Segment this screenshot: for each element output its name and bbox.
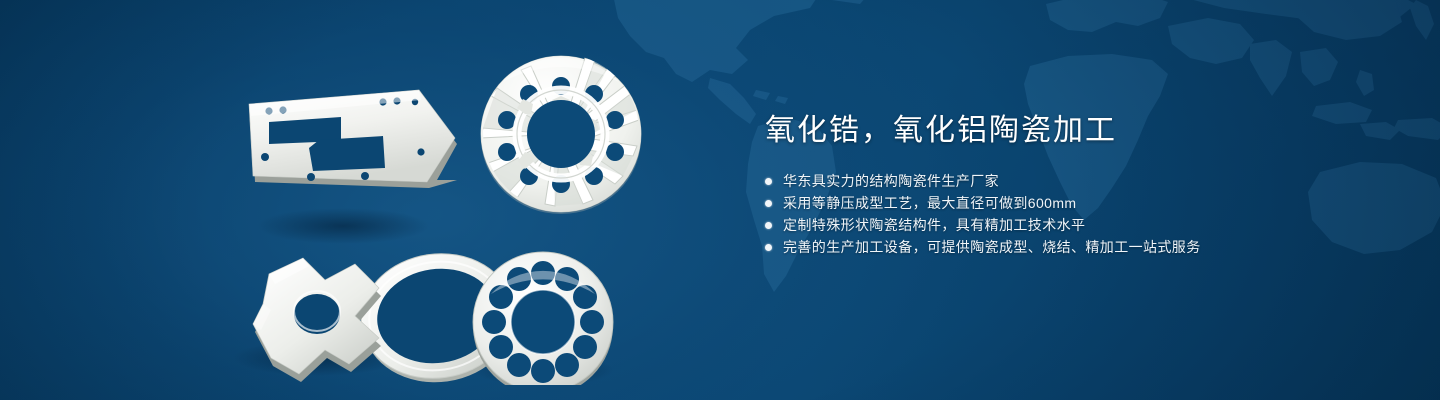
feature-text: 采用等静压成型工艺，最大直径可做到600mm bbox=[783, 192, 1076, 214]
banner-title: 氧化锆，氧化铝陶瓷加工 bbox=[765, 112, 1385, 150]
feature-text: 华东具实力的结构陶瓷件生产厂家 bbox=[783, 170, 999, 192]
list-item: 华东具实力的结构陶瓷件生产厂家 bbox=[765, 170, 1385, 192]
bullet-dot-icon bbox=[765, 200, 772, 207]
list-item: 采用等静压成型工艺，最大直径可做到600mm bbox=[765, 192, 1385, 214]
hero-banner: 氧化锆，氧化铝陶瓷加工 华东具实力的结构陶瓷件生产厂家 采用等静压成型工艺，最大… bbox=[0, 0, 1440, 400]
banner-feature-list: 华东具实力的结构陶瓷件生产厂家 采用等静压成型工艺，最大直径可做到600mm 定… bbox=[765, 170, 1385, 258]
list-item: 定制特殊形状陶瓷结构件，具有精加工技术水平 bbox=[765, 214, 1385, 236]
ceramic-machined-plate bbox=[249, 90, 457, 188]
bullet-dot-icon bbox=[765, 244, 772, 251]
ceramic-perforated-disc bbox=[473, 252, 613, 385]
feature-text: 定制特殊形状陶瓷结构件，具有精加工技术水平 bbox=[783, 214, 1085, 236]
banner-copy: 氧化锆，氧化铝陶瓷加工 华东具实力的结构陶瓷件生产厂家 采用等静压成型工艺，最大… bbox=[765, 112, 1385, 258]
bullet-dot-icon bbox=[765, 178, 772, 185]
bullet-dot-icon bbox=[765, 222, 772, 229]
list-item: 完善的生产加工设备，可提供陶瓷成型、烧结、精加工一站式服务 bbox=[765, 236, 1385, 258]
ceramic-impeller-disc bbox=[481, 56, 641, 214]
feature-text: 完善的生产加工设备，可提供陶瓷成型、烧结、精加工一站式服务 bbox=[783, 236, 1201, 258]
ceramic-products-image bbox=[225, 40, 705, 385]
